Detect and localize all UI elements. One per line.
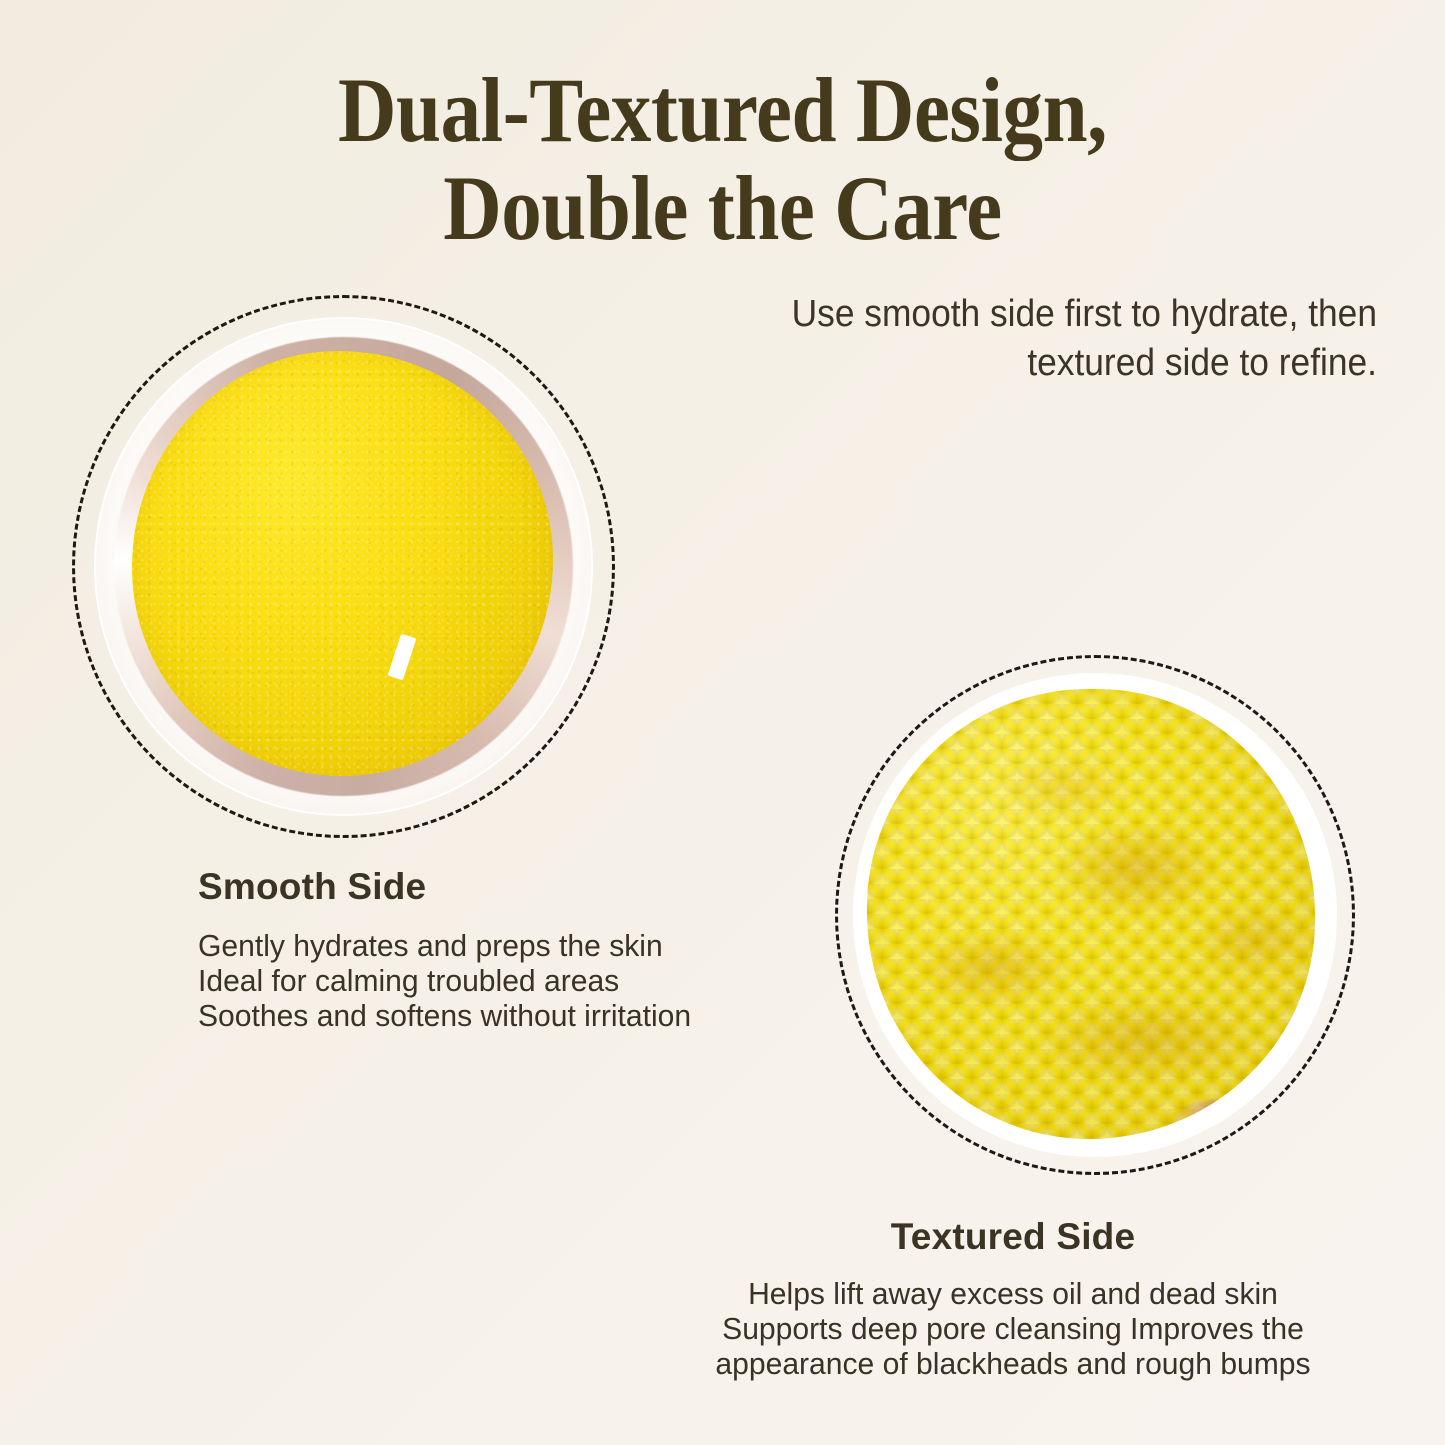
- textured-side-pad-photo: [835, 655, 1355, 1175]
- page-subtitle-line-1: Use smooth side first to hydrate, then: [633, 290, 1377, 339]
- page-subtitle-line-2: textured side to refine.: [633, 339, 1377, 388]
- smooth-side-heading: Smooth Side: [198, 865, 706, 909]
- textured-side-caption: Textured Side Helps lift away excess oil…: [673, 1215, 1353, 1381]
- page-title-line-2: Double the Care: [87, 160, 1359, 256]
- smooth-side-bullet-list: Gently hydrates and preps the skin Ideal…: [198, 928, 706, 1033]
- smooth-side-caption: Smooth Side Gently hydrates and preps th…: [198, 865, 706, 1033]
- textured-yellow-pad-surface: [867, 689, 1315, 1139]
- specular-highlight: [1267, 1045, 1315, 1075]
- textured-pad-image-frame: [853, 673, 1337, 1157]
- page-title: Dual-Textured Design, Double the Care: [0, 62, 1445, 256]
- smooth-yellow-pad-surface: [132, 351, 553, 776]
- textured-side-heading: Textured Side: [673, 1215, 1353, 1259]
- infographic-canvas: Dual-Textured Design, Double the Care Us…: [0, 0, 1445, 1445]
- list-item: appearance of blackheads and rough bumps: [683, 1346, 1343, 1381]
- list-item: Supports deep pore cleansing Improves th…: [683, 1311, 1343, 1346]
- list-item: Helps lift away excess oil and dead skin: [683, 1276, 1343, 1311]
- amber-mottling-overlay: [867, 689, 1315, 1139]
- page-subtitle: Use smooth side first to hydrate, then t…: [633, 290, 1377, 388]
- smooth-side-pad-photo: [72, 295, 615, 838]
- list-item: Soothes and softens without irritation: [198, 998, 691, 1033]
- list-item: Ideal for calming troubled areas: [198, 963, 691, 998]
- list-item: Gently hydrates and preps the skin: [198, 928, 691, 963]
- pad-pink-inner-rim: [1171, 1099, 1301, 1139]
- smooth-pad-image-frame: [94, 317, 593, 816]
- page-title-line-1: Dual-Textured Design,: [87, 62, 1359, 158]
- textured-side-bullet-list: Helps lift away excess oil and dead skin…: [673, 1276, 1353, 1381]
